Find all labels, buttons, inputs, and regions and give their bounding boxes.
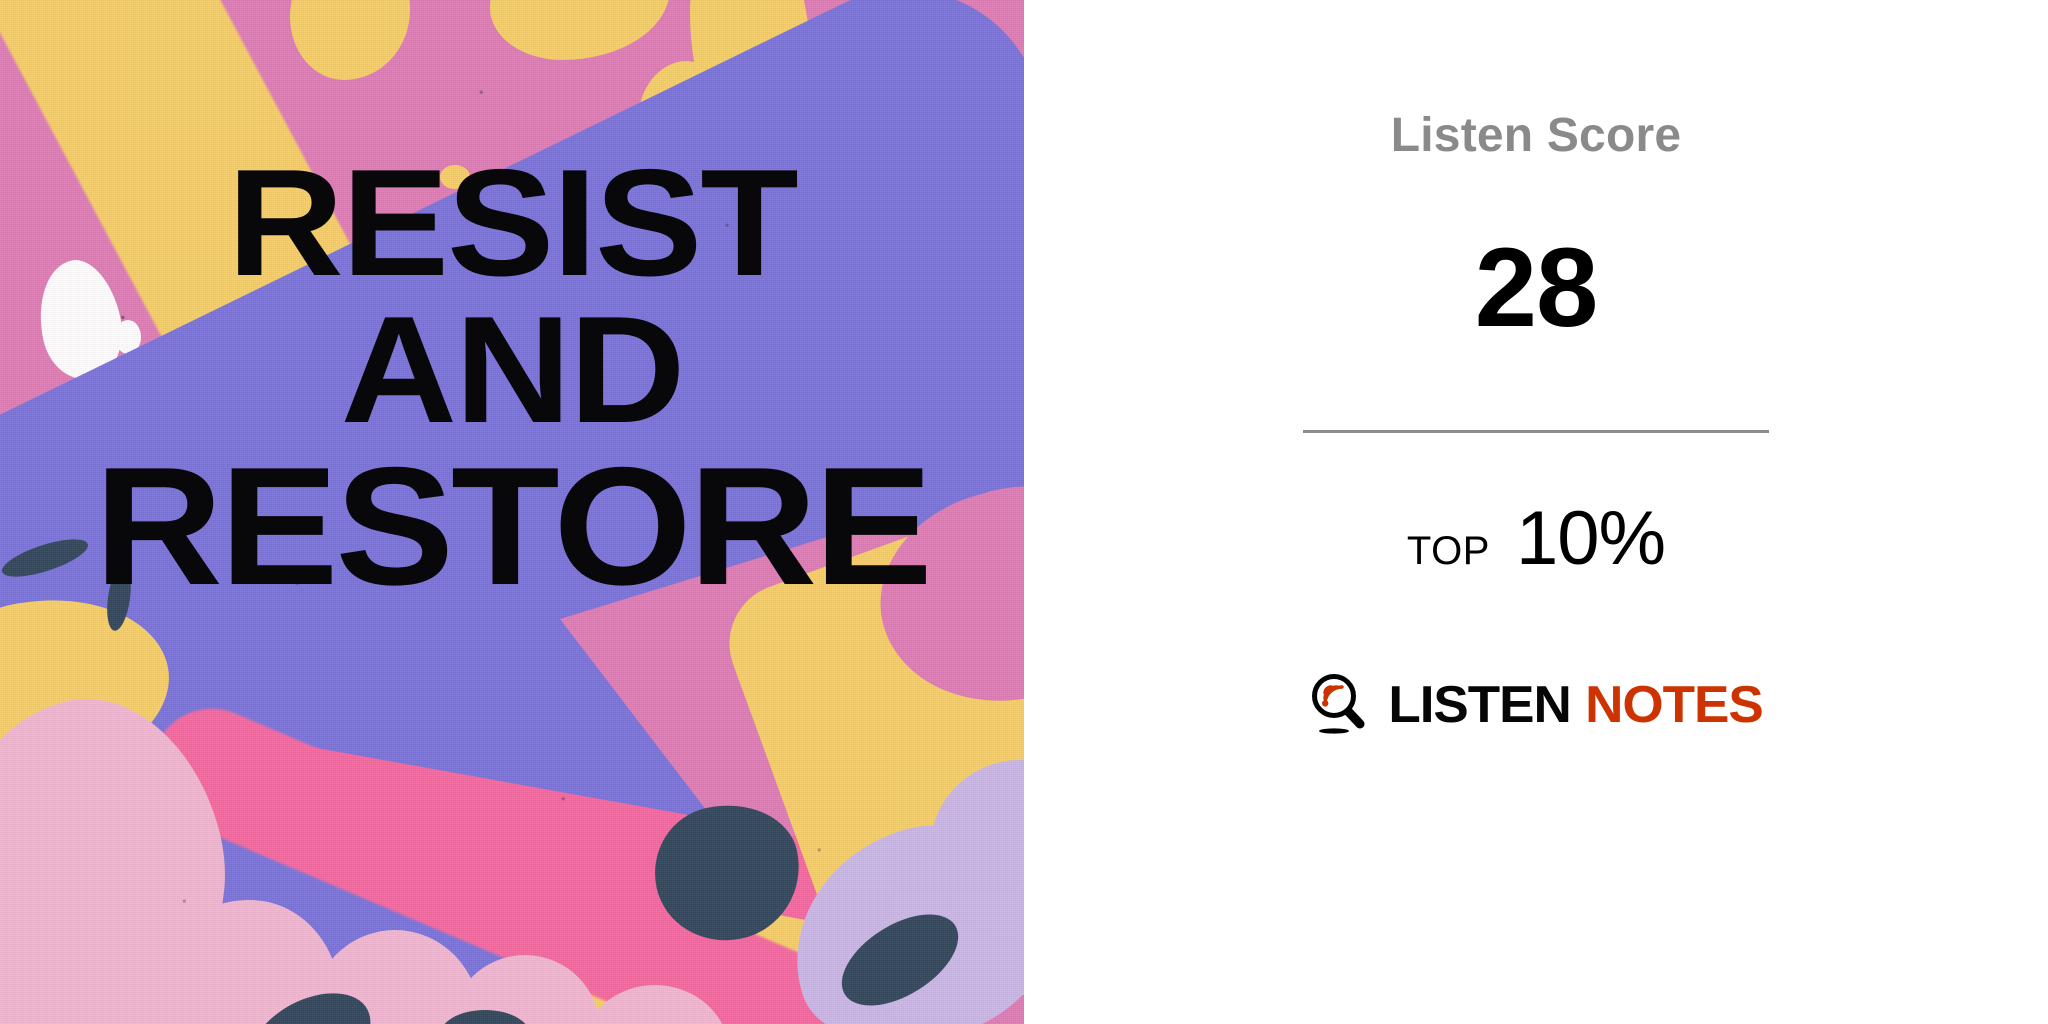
listen-score-rank: TOP 10% — [1407, 495, 1665, 582]
wordmark-notes: NOTES — [1586, 676, 1764, 734]
cover-title-line-2: AND — [0, 297, 1024, 444]
listen-notes-wordmark: LISTENNOTES — [1389, 679, 1763, 731]
wordmark-listen: LISTEN — [1389, 676, 1571, 734]
listen-notes-logo[interactable]: LISTENNOTES — [1312, 674, 1759, 736]
listen-score-panel: Listen Score 28 TOP 10% — [1024, 0, 2048, 1024]
listen-score-value: 28 — [1475, 232, 1598, 344]
listen-score-card: RESIST AND RESTORE Listen Score 28 TOP 1… — [0, 0, 2048, 1024]
rank-percent-value: 10% — [1516, 495, 1665, 582]
listen-score-label: Listen Score — [1391, 112, 1682, 160]
cover-title: RESIST AND RESTORE — [0, 150, 1024, 608]
podcast-cover-art[interactable]: RESIST AND RESTORE — [0, 0, 1024, 1024]
cover-title-line-3: RESTORE — [0, 445, 1024, 608]
panel-divider — [1303, 430, 1769, 433]
cover-title-line-1: RESIST — [0, 150, 1024, 297]
listen-notes-magnifier-rss-icon — [1312, 674, 1370, 736]
rank-prefix-label: TOP — [1407, 529, 1490, 574]
